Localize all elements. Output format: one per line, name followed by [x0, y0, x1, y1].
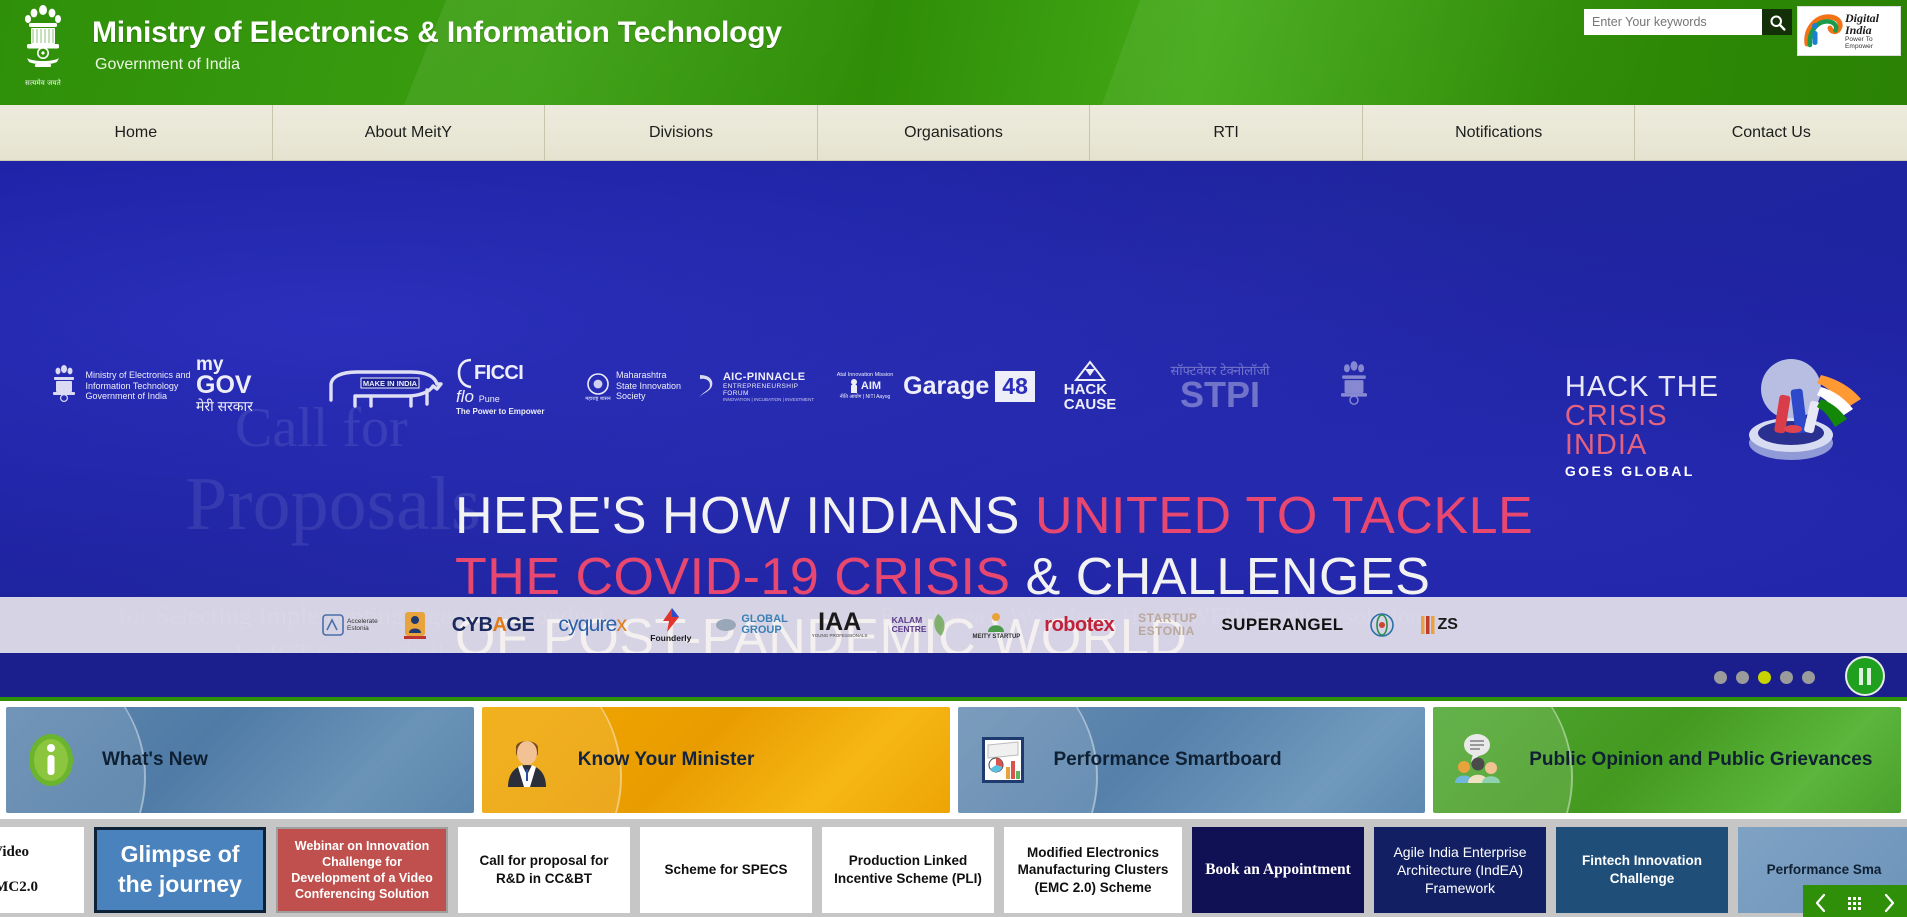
maharashtra-state-innovation-society-icon: महाराष्ट्र शासन MaharashtraState Innovat… — [572, 370, 694, 401]
carousel-dots — [1714, 671, 1815, 684]
page-subtitle: Government of India — [95, 56, 240, 74]
mygov-logo-icon: my GOV मेरी सरकार — [196, 356, 308, 417]
tile-performance-smartboard[interactable]: Performance Smartboard — [958, 707, 1426, 813]
tile-label: Performance Smartboard — [1054, 748, 1282, 772]
site-header: सत्यमेव जयते Ministry of Electronics & I… — [0, 0, 1907, 105]
card-line: Call for proposal for — [479, 852, 608, 870]
nav-item-home[interactable]: Home — [0, 105, 273, 160]
people-speech-icon — [1449, 731, 1507, 789]
nav-item-organisations[interactable]: Organisations — [818, 105, 1091, 160]
superangel-logo-icon: SUPERANGEL — [1221, 615, 1343, 635]
zs-logo-icon: ZS — [1420, 614, 1458, 636]
card-production-linked-incentive[interactable]: Production Linked Incentive Scheme (PLI) — [822, 827, 994, 913]
ghost-text-1: Proposals — [185, 461, 481, 548]
search-button[interactable] — [1762, 9, 1792, 35]
person-suit-icon — [498, 731, 556, 789]
carousel-control-bar — [0, 653, 1907, 701]
aic-pinnacle-logo-icon: AIC-PINNACLE ENTREPRENEURSHIP FORUM INNO… — [694, 371, 826, 402]
hack-the-cause-logo-icon: HACKCAUSE — [1034, 360, 1146, 412]
card-item[interactable]: al Video & EMC2.0 — [0, 827, 84, 913]
grid-icon[interactable] — [1838, 885, 1871, 917]
search-box — [1584, 9, 1792, 35]
card-line: R&D in CC&BT — [479, 870, 608, 888]
main-navigation: Home About MeitY Divisions Organisations… — [0, 105, 1907, 161]
nav-item-rti[interactable]: RTI — [1090, 105, 1363, 160]
search-icon — [1769, 14, 1786, 31]
msins-logo-icon — [402, 610, 428, 640]
chart-report-icon — [974, 731, 1032, 789]
global-group-logo-icon: GLOBALGROUP — [715, 614, 787, 636]
ficci-flo-logo-icon: FICCI flo Pune The Power to Empower — [456, 356, 572, 416]
card-glimpse-of-the-journey[interactable]: Glimpse of the journey — [94, 827, 266, 913]
card-webinar-innovation-challenge[interactable]: Webinar on Innovation Challenge for Deve… — [276, 827, 448, 913]
search-input[interactable] — [1584, 9, 1762, 35]
chevron-right-icon[interactable] — [1873, 885, 1906, 917]
hack-the-line-4: GOES GLOBAL — [1565, 464, 1719, 478]
plug-logo-icon — [1368, 612, 1396, 638]
carousel-dot-3[interactable] — [1758, 671, 1771, 684]
meity-startup-hub-logo-icon: MEITY STARTUP — [973, 610, 1021, 640]
hero-banner-carousel[interactable]: Call for Proposals for Selecting Impleme… — [0, 161, 1907, 701]
svg-text:महाराष्ट्र शासन: महाराष्ट्र शासन — [585, 396, 611, 401]
headline-line1-red: UNITED TO TACKLE — [1035, 487, 1533, 545]
digital-india-logo-icon — [1801, 10, 1843, 52]
hack-the-line-1: HACK THE — [1565, 373, 1719, 402]
hackathon-illustration-icon — [1733, 353, 1865, 473]
headline-line1-white: HERE'S HOW INDIANS — [455, 487, 1035, 545]
startup-estonia-logo-icon: STARTUPESTONIA — [1138, 612, 1197, 637]
card-track: al Video & EMC2.0 Glimpse of the journey… — [0, 827, 1907, 913]
card-line: Glimpse of — [118, 840, 242, 870]
garage48-logo-icon: Garage 48 — [904, 371, 1034, 402]
tile-label: Know Your Minister — [578, 748, 755, 772]
aim-logo-icon: Atal Innovation Mission AIM नीति आयोग | … — [826, 372, 904, 400]
card-carousel-navigation — [1803, 885, 1907, 917]
stpi-logo-icon: सॉफ्टवेयर टेक्नोलॉजी STPI — [1146, 361, 1294, 411]
svg-text:MAKE IN INDIA: MAKE IN INDIA — [363, 379, 418, 388]
scheme-card-carousel[interactable]: al Video & EMC2.0 Glimpse of the journey… — [0, 819, 1907, 917]
pause-icon-bar-2 — [1867, 668, 1871, 685]
hack-the-line-3: INDIA — [1565, 431, 1719, 460]
tile-whats-new[interactable]: What's New — [6, 707, 474, 813]
tile-label: What's New — [102, 748, 208, 772]
founderly-logo-icon: Founderly — [650, 607, 691, 643]
card-call-for-proposal-rd-ccbt[interactable]: Call for proposal for R&D in CC&BT — [458, 827, 630, 913]
card-line: & EMC2.0 — [0, 878, 38, 898]
robotex-logo-icon: robotex — [1044, 614, 1114, 637]
pause-icon — [1859, 668, 1863, 685]
cyqurex-logo-icon: cyqurex — [558, 613, 626, 637]
page-title: Ministry of Electronics & Information Te… — [92, 16, 782, 50]
carousel-dot-4[interactable] — [1780, 671, 1793, 684]
nav-item-about-meity[interactable]: About MeitY — [273, 105, 546, 160]
carousel-dot-2[interactable] — [1736, 671, 1749, 684]
meity-emblem-icon: Ministry of Electronics andInformation T… — [44, 364, 196, 408]
card-scheme-for-specs[interactable]: Scheme for SPECS — [640, 827, 812, 913]
emblem-motto: सत्यमेव जयते — [25, 79, 61, 88]
tile-public-opinion-grievances[interactable]: Public Opinion and Public Grievances — [1433, 707, 1901, 813]
feature-tiles: What's New Know Your Minister — [0, 701, 1907, 813]
card-book-an-appointment[interactable]: Book an Appointment — [1192, 827, 1364, 913]
india-state-emblem-icon: सत्यमेव जयते — [12, 4, 74, 100]
info-circle-icon — [22, 731, 80, 789]
iaa-logo-icon: IAA YOUNG PROFESSIONALS — [812, 612, 868, 638]
tile-know-your-minister[interactable]: Know Your Minister — [482, 707, 950, 813]
digital-india-tagline: Power To Empower — [1845, 37, 1897, 51]
kalam-centre-logo-icon: KALAMCENTRE — [892, 612, 949, 638]
cybage-logo-icon: CYBAGE — [452, 614, 535, 637]
nav-item-divisions[interactable]: Divisions — [545, 105, 818, 160]
carousel-dot-5[interactable] — [1802, 671, 1815, 684]
hack-the-crisis-india-banner: HACK THE CRISIS INDIA GOES GLOBAL — [1565, 373, 1719, 478]
tile-label: Public Opinion and Public Grievances — [1529, 748, 1872, 772]
nav-item-contact-us[interactable]: Contact Us — [1635, 105, 1907, 160]
digital-india-logo[interactable]: Digital India Power To Empower — [1797, 6, 1901, 56]
accelerate-estonia-logo-icon: AccelerateEstonia — [322, 614, 378, 636]
carousel-pause-button[interactable] — [1845, 656, 1885, 696]
nav-item-notifications[interactable]: Notifications — [1363, 105, 1636, 160]
chevron-left-icon[interactable] — [1804, 885, 1837, 917]
make-in-india-lion-icon: MAKE IN INDIA — [308, 360, 456, 412]
digital-india-title: Digital India — [1845, 12, 1897, 37]
card-agile-india-indea-framework[interactable]: Agile India Enterprise Architecture (Ind… — [1374, 827, 1546, 913]
meity-emblem-icon — [1294, 360, 1414, 412]
card-modified-emc-scheme[interactable]: Modified Electronics Manufacturing Clust… — [1004, 827, 1182, 913]
banner-partner-logos-bottom: AccelerateEstonia CYBAGE cyqurex Founder… — [0, 597, 1907, 653]
card-line: the journey — [118, 870, 242, 900]
card-fintech-innovation-challenge[interactable]: Fintech Innovation Challenge — [1556, 827, 1728, 913]
hack-the-line-2: CRISIS — [1565, 402, 1719, 431]
card-line: al Video — [0, 843, 38, 863]
carousel-dot-1[interactable] — [1714, 671, 1727, 684]
